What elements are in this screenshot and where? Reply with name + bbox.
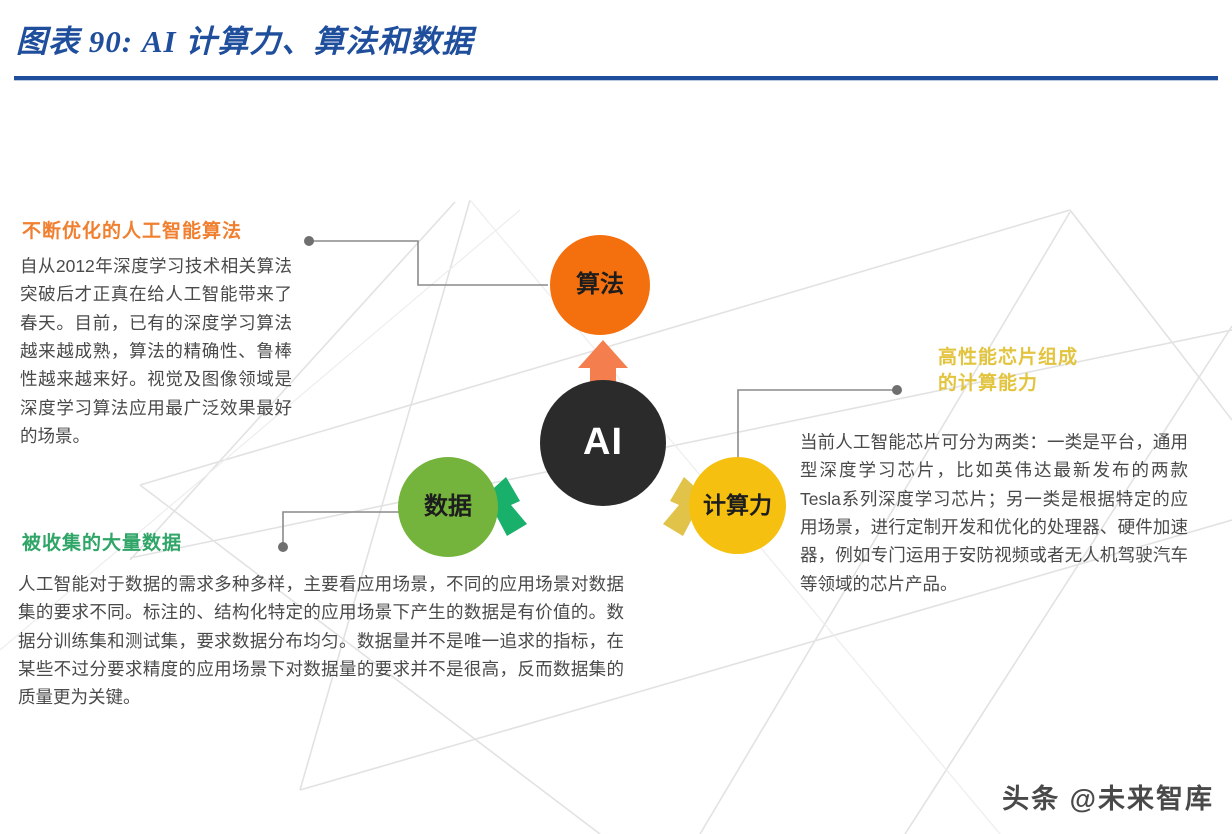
watermark: 头条 @未来智库 — [1002, 777, 1214, 816]
node-data[interactable]: 数据 — [398, 457, 498, 557]
node-computing-power[interactable]: 计算力 — [689, 457, 786, 554]
infographic-canvas: 图表 90: AI 计算力、算法和数据 — [0, 0, 1232, 834]
callout-body-algorithm: 自从2012年深度学习技术相关算法突破后才正真在给人工智能带来了春天。目前，已有… — [20, 252, 292, 450]
node-computing-power-label: 计算力 — [703, 493, 772, 517]
node-algorithm-label: 算法 — [576, 272, 624, 297]
callout-heading-data: 被收集的大量数据 — [22, 528, 182, 555]
node-data-label: 数据 — [424, 494, 472, 519]
callout-body-computing-power: 当前人工智能芯片可分为两类：一类是平台，通用型深度学习芯片，比如英伟达最新发布的… — [800, 428, 1188, 598]
callout-body-data: 人工智能对于数据的需求多种多样，主要看应用场景，不同的应用场景对数据集的要求不同… — [18, 570, 624, 712]
node-ai[interactable]: AI — [540, 380, 666, 506]
node-ai-label: AI — [583, 423, 623, 463]
node-algorithm[interactable]: 算法 — [550, 235, 650, 335]
callout-heading-algorithm: 不断优化的人工智能算法 — [22, 216, 242, 243]
callout-heading-computing-power: 高性能芯片组成 的计算能力 — [938, 345, 1078, 396]
